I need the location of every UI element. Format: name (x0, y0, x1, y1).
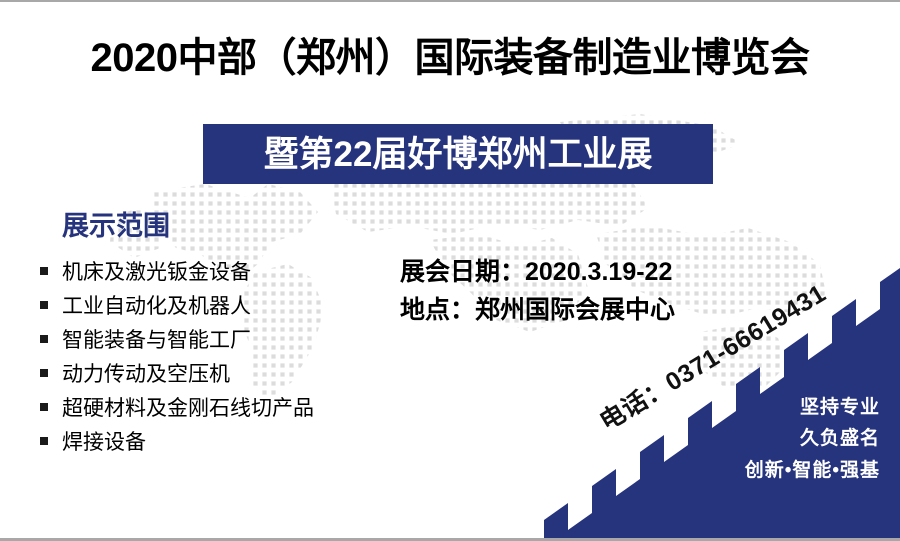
square-bullet-icon (40, 301, 48, 309)
list-item-label: 超硬材料及金刚石线切产品 (62, 392, 314, 422)
expo-poster: 2020中部（郑州）国际装备制造业博览会 暨第22届好博郑州工业展 展示范围 机… (0, 0, 900, 541)
list-item: 超硬材料及金刚石线切产品 (40, 390, 314, 424)
scope-heading: 展示范围 (62, 204, 170, 243)
page-title: 2020中部（郑州）国际装备制造业博览会 (0, 36, 900, 80)
list-item: 智能装备与智能工厂 (40, 322, 314, 356)
list-item: 动力传动及空压机 (40, 356, 314, 390)
square-bullet-icon (40, 335, 48, 343)
list-item-label: 机床及激光钣金设备 (62, 256, 251, 286)
event-venue: 地点：郑州国际会展中心 (400, 292, 675, 330)
square-bullet-icon (40, 437, 48, 445)
event-date: 展会日期：2020.3.19-22 (400, 254, 675, 292)
slogan-line: 坚持专业 (745, 392, 880, 423)
slogan-block: 坚持专业 久负盛名 创新•智能•强基 (745, 392, 880, 486)
list-item-label: 焊接设备 (62, 426, 146, 456)
square-bullet-icon (40, 267, 48, 275)
sub-title-banner: 暨第22届好博郑州工业展 (203, 124, 713, 184)
list-item-label: 智能装备与智能工厂 (62, 324, 251, 354)
list-item-label: 动力传动及空压机 (62, 358, 230, 388)
square-bullet-icon (40, 403, 48, 411)
list-item-label: 工业自动化及机器人 (62, 290, 251, 320)
list-item: 机床及激光钣金设备 (40, 254, 314, 288)
list-item: 焊接设备 (40, 424, 314, 458)
scope-list: 机床及激光钣金设备 工业自动化及机器人 智能装备与智能工厂 动力传动及空压机 超… (40, 254, 314, 458)
slogan-line: 久负盛名 (745, 423, 880, 454)
list-item: 工业自动化及机器人 (40, 288, 314, 322)
event-info-block: 展会日期：2020.3.19-22 地点：郑州国际会展中心 (400, 254, 675, 329)
square-bullet-icon (40, 369, 48, 377)
slogan-line: 创新•智能•强基 (745, 455, 880, 486)
sub-title-text: 暨第22届好博郑州工业展 (264, 137, 653, 172)
